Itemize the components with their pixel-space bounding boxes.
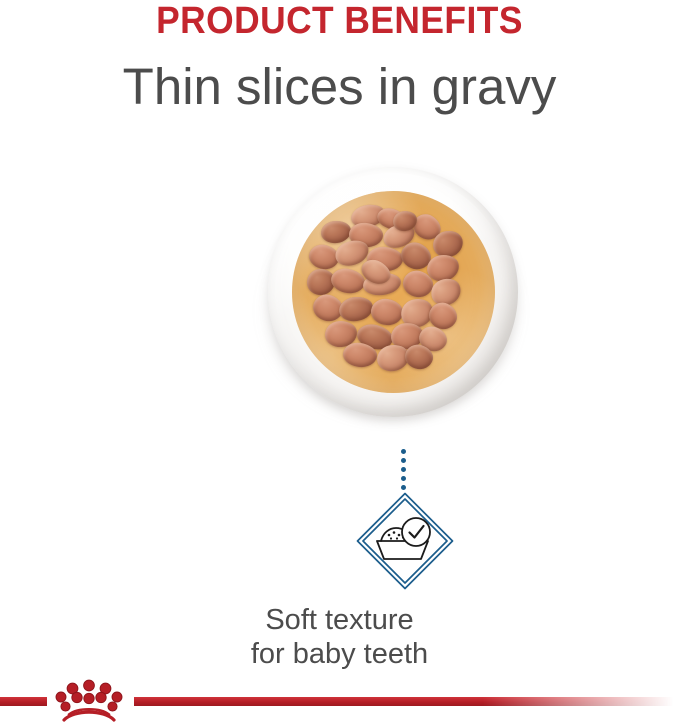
meat-slice bbox=[337, 295, 374, 323]
footer-rule-left bbox=[0, 697, 47, 706]
product-benefits-page: PRODUCT BENEFITS Thin slices in gravy bbox=[0, 0, 679, 727]
benefit-caption: Soft texture for baby teeth bbox=[0, 603, 679, 671]
benefit-caption-line2: for baby teeth bbox=[0, 637, 679, 671]
connector-dot bbox=[401, 467, 406, 472]
check-circle-icon bbox=[402, 518, 430, 546]
connector-dot bbox=[401, 458, 406, 463]
benefit-icon-badge bbox=[355, 491, 455, 591]
connector-dot bbox=[401, 476, 406, 481]
meat-slices-pile bbox=[305, 203, 483, 379]
royal-canin-crown-icon bbox=[50, 679, 128, 723]
connector-dot bbox=[401, 449, 406, 454]
hero-bowl-image bbox=[249, 165, 531, 423]
footer-rule-right bbox=[134, 697, 679, 706]
footer-bar bbox=[0, 671, 679, 727]
product-benefits-eyebrow: PRODUCT BENEFITS bbox=[24, 0, 655, 41]
benefit-caption-line1: Soft texture bbox=[0, 603, 679, 637]
header-block: PRODUCT BENEFITS Thin slices in gravy bbox=[0, 0, 679, 115]
connector-dot bbox=[401, 485, 406, 490]
meat-slice bbox=[369, 296, 405, 327]
dotted-connector bbox=[401, 449, 408, 489]
page-title: Thin slices in gravy bbox=[0, 59, 679, 115]
